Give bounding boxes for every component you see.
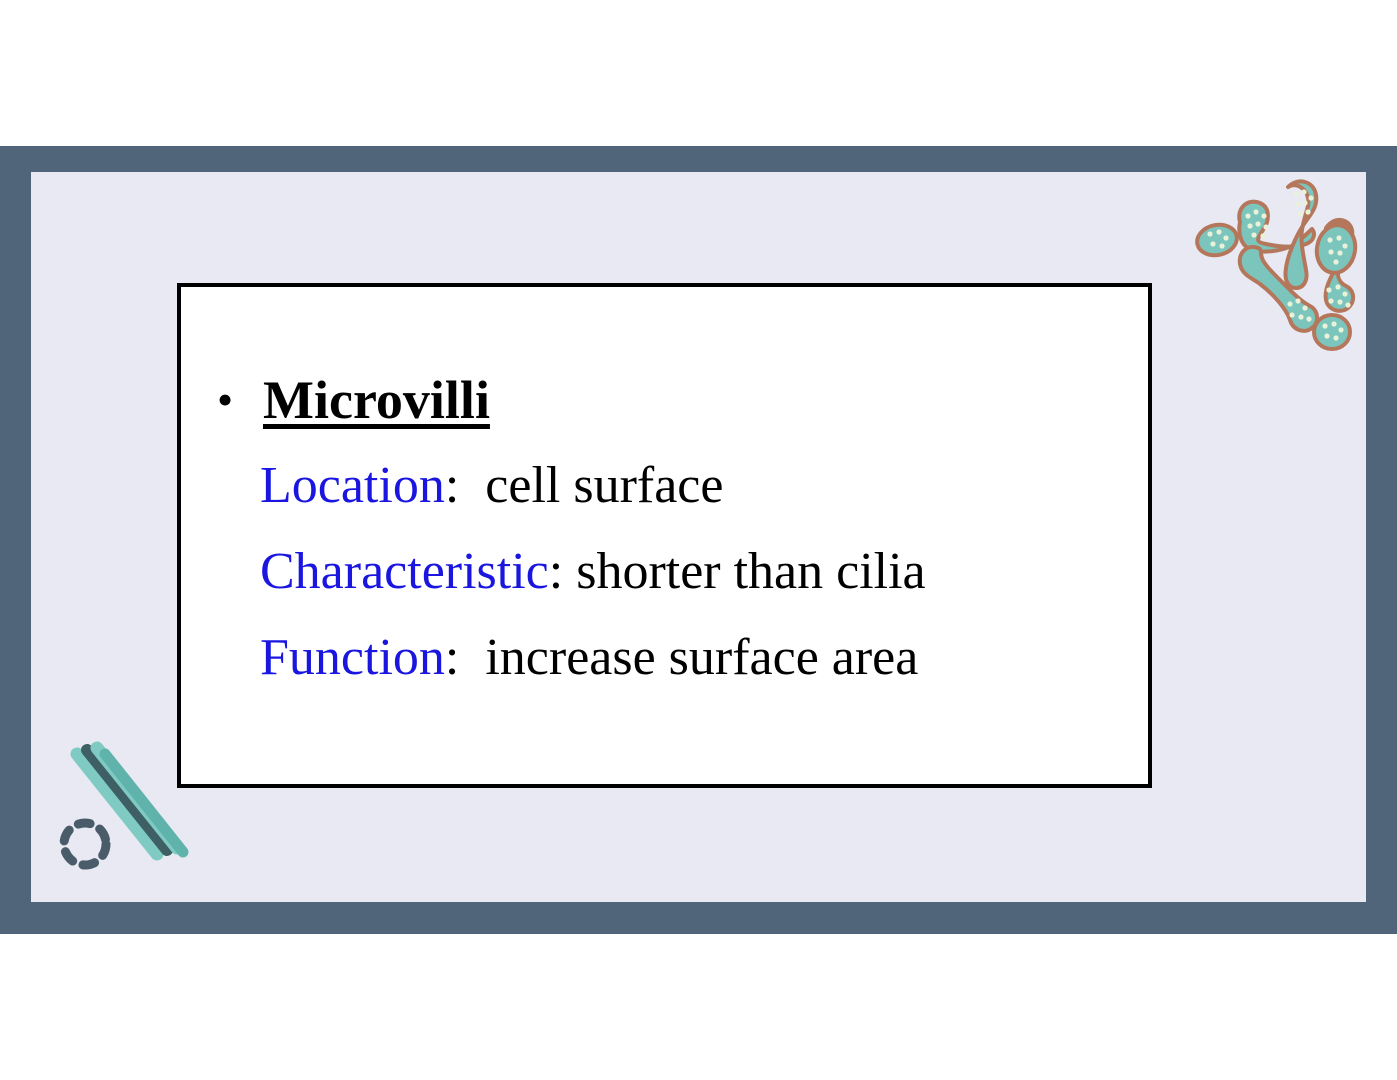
detail-value-function: increase surface area [485,629,918,686]
detail-row-characteristic: Characteristic: shorter than cilia [199,529,1129,615]
bullet-icon: • [217,357,233,443]
detail-row-location: Location: cell surface [199,443,1129,529]
detail-row-function: Function: increase surface area [199,615,1129,701]
detail-separator: : [549,543,563,600]
heading-line: • Microvilli [199,357,1129,443]
page-title: Microvilli [263,357,490,443]
slide-frame: • Microvilli Location: cell surface Char… [0,146,1397,934]
detail-label-characteristic: Characteristic [260,543,549,600]
content-box: • Microvilli Location: cell surface Char… [177,283,1152,788]
bacteria-cluster-icon [1192,172,1366,352]
text-block: • Microvilli Location: cell surface Char… [199,357,1129,701]
slide-canvas: • Microvilli Location: cell surface Char… [31,172,1366,902]
detail-label-function: Function [260,629,445,686]
detail-value-location: cell surface [485,457,723,514]
detail-label-location: Location [260,457,445,514]
dashed-ring-icon [64,823,106,865]
detail-separator: : [445,457,459,514]
detail-value-characteristic: shorter than cilia [576,543,925,600]
detail-separator: : [445,629,459,686]
